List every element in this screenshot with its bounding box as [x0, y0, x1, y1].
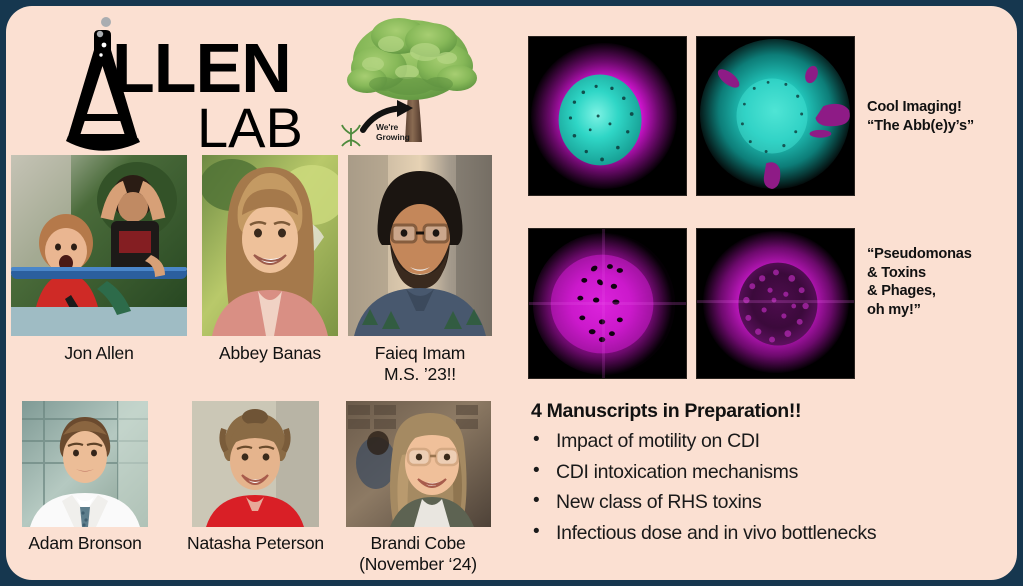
manuscript-item: CDI intoxication mechanisms — [531, 457, 1011, 488]
were-growing-line2: Growing — [376, 133, 410, 143]
micro-panel-4 — [696, 228, 855, 379]
name-jon-allen: Jon Allen — [11, 343, 187, 364]
caption-line: “Pseudomonas — [867, 245, 1017, 264]
manuscripts-section: 4 Manuscripts in Preparation!! Impact of… — [531, 400, 1011, 548]
name-abbey-banas: Abbey Banas — [202, 343, 338, 364]
photo-faieq-imam — [348, 155, 492, 336]
sprout-icon — [342, 125, 360, 146]
name-text: Adam Bronson — [28, 533, 141, 553]
micro-panel-2 — [696, 36, 855, 196]
name-text: Jon Allen — [64, 343, 133, 363]
name-brandi-cobe: Brandi Cobe (November ‘24) — [338, 533, 498, 574]
manuscript-item: Infectious dose and in vivo bottlenecks — [531, 518, 1011, 549]
header-branding: LLEN LAB LLEN LAB — [6, 6, 518, 161]
photo-brandi-cobe — [346, 401, 491, 527]
caption-line: & Phages, — [867, 282, 1017, 301]
tree-icon — [339, 14, 489, 159]
allen-lab-logo: LLEN LAB — [64, 14, 304, 159]
manuscript-item: Impact of motility on CDI — [531, 426, 1011, 457]
name-subtitle: (November ‘24) — [338, 554, 498, 575]
photo-adam-bronson — [22, 401, 148, 527]
manuscripts-list: Impact of motility on CDI CDI intoxicati… — [531, 426, 1011, 548]
name-text: Abbey Banas — [219, 343, 321, 363]
name-text: Natasha Peterson — [187, 533, 324, 553]
name-adam-bronson: Adam Bronson — [12, 533, 158, 554]
name-faieq-imam: Faieq Imam M.S. ’23!! — [348, 343, 492, 384]
caption-cool-imaging: Cool Imaging! “The Abb(e)y’s” — [867, 98, 1017, 135]
micro-panel-3 — [528, 228, 687, 379]
caption-line: oh my!” — [867, 301, 1017, 320]
caption-line: & Toxins — [867, 264, 1017, 283]
caption-line: “The Abb(e)y’s” — [867, 117, 1017, 136]
name-text: Brandi Cobe — [338, 533, 498, 554]
slide-card: LLEN LAB LLEN LAB — [6, 6, 1017, 580]
photo-natasha-peterson — [192, 401, 319, 527]
photo-jon-allen — [11, 155, 187, 336]
manuscript-item: New class of RHS toxins — [531, 487, 1011, 518]
manuscripts-heading: 4 Manuscripts in Preparation!! — [531, 400, 1011, 423]
slide-canvas: LLEN LAB LLEN LAB — [0, 0, 1023, 586]
caption-line: Cool Imaging! — [867, 98, 1017, 117]
svg-text:LAB: LAB — [197, 96, 303, 159]
name-subtitle: M.S. ’23!! — [348, 364, 492, 385]
micro-panel-1 — [528, 36, 687, 196]
photo-abbey-banas — [202, 155, 338, 336]
name-text: Faieq Imam — [348, 343, 492, 364]
were-growing-label: We're Growing — [376, 123, 410, 143]
name-natasha-peterson: Natasha Peterson — [174, 533, 337, 554]
caption-pseudomonas: “Pseudomonas & Toxins & Phages, oh my!” — [867, 245, 1017, 320]
